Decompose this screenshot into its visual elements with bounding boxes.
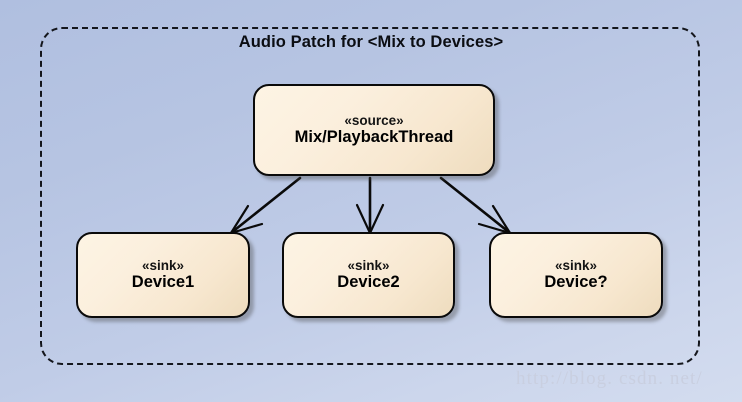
watermark-text: http://blog. csdn. net/: [516, 368, 703, 390]
node-source-mix-playbackthread[interactable]: «source» Mix/PlaybackThread: [253, 84, 495, 176]
diagram-canvas: Audio Patch for <Mix to Devices> «source…: [0, 0, 742, 402]
node-sink-device1[interactable]: «sink» Device1: [76, 232, 250, 318]
node-label: Device?: [544, 273, 607, 292]
node-label: Device2: [337, 273, 399, 292]
node-sink-device-unknown[interactable]: «sink» Device?: [489, 232, 663, 318]
node-stereotype: «sink»: [347, 258, 389, 273]
node-label: Mix/PlaybackThread: [295, 128, 454, 147]
node-stereotype: «sink»: [142, 258, 184, 273]
node-stereotype: «sink»: [555, 258, 597, 273]
node-sink-device2[interactable]: «sink» Device2: [282, 232, 455, 318]
diagram-title: Audio Patch for <Mix to Devices>: [0, 33, 742, 52]
node-label: Device1: [132, 273, 194, 292]
node-stereotype: «source»: [344, 113, 403, 128]
